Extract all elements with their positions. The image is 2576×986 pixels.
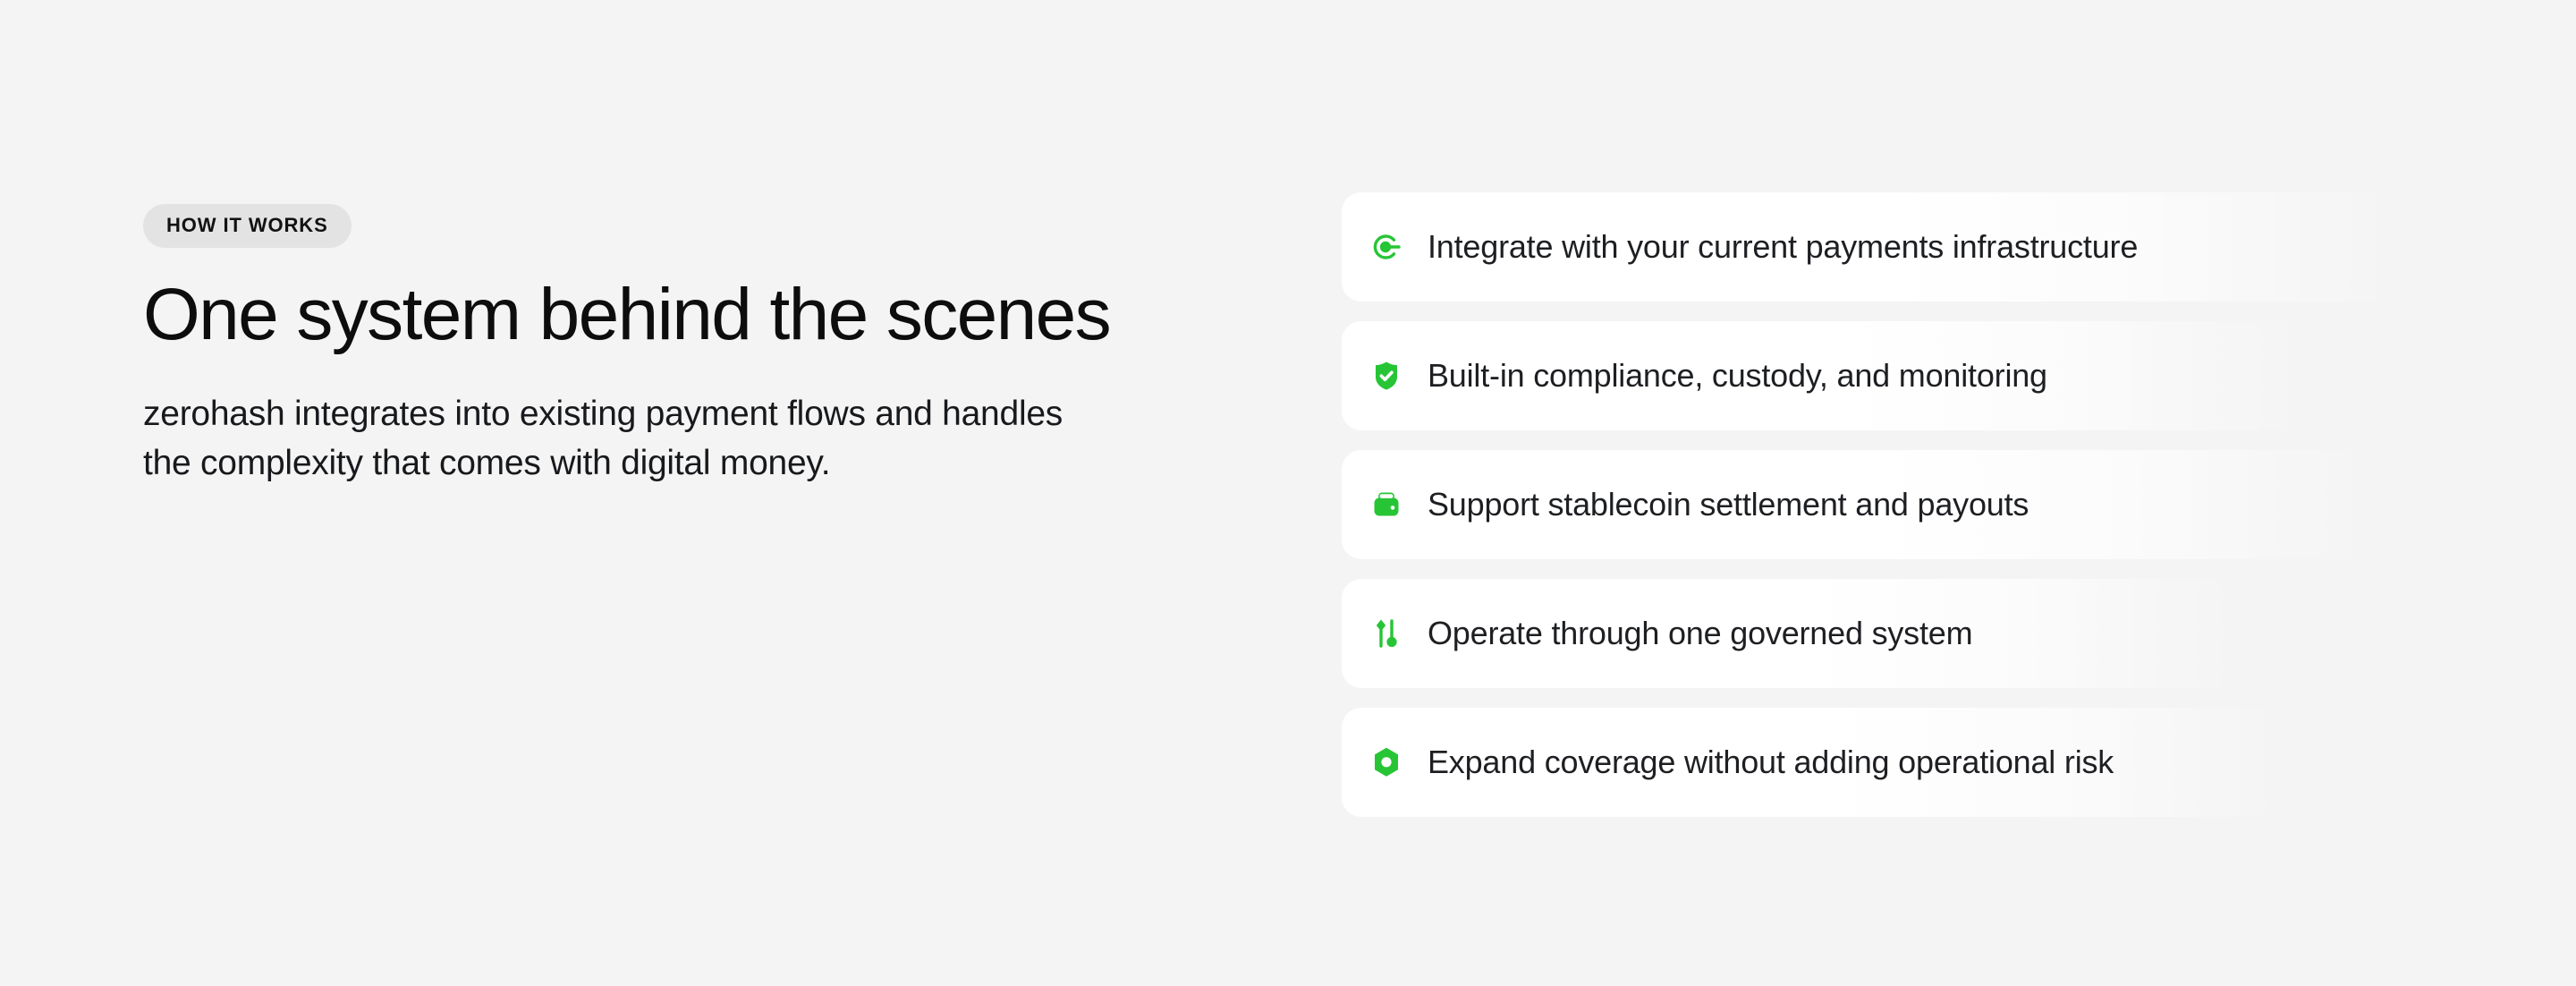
feature-label: Built-in compliance, custody, and monito… bbox=[1428, 356, 2047, 395]
wallet-icon bbox=[1368, 487, 1404, 523]
feature-label: Operate through one governed system bbox=[1428, 614, 1972, 652]
intro-paragraph: zerohash integrates into existing paymen… bbox=[143, 389, 1234, 489]
shield-check-icon bbox=[1368, 358, 1404, 394]
feature-card[interactable]: Support stablecoin settlement and payout… bbox=[1342, 450, 2379, 559]
hexagon-node-icon bbox=[1368, 744, 1404, 780]
eyebrow-badge: HOW IT WORKS bbox=[143, 204, 352, 248]
feature-card[interactable]: Operate through one governed system bbox=[1342, 579, 2245, 688]
page-title: One system behind the scenes bbox=[143, 278, 1261, 352]
intro-paragraph-line-2: the complexity that comes with digital m… bbox=[143, 438, 1234, 488]
feature-list: Integrate with your current payments inf… bbox=[1342, 192, 2504, 837]
intro-paragraph-line-1: zerohash integrates into existing paymen… bbox=[143, 389, 1234, 438]
feature-label: Support stablecoin settlement and payout… bbox=[1428, 485, 2029, 523]
sliders-icon bbox=[1368, 616, 1404, 651]
intro-column: HOW IT WORKS One system behind the scene… bbox=[143, 204, 1261, 489]
feature-card[interactable]: Built-in compliance, custody, and monito… bbox=[1342, 321, 2312, 430]
feature-label: Expand coverage without adding operation… bbox=[1428, 743, 2114, 781]
how-it-works-section: HOW IT WORKS One system behind the scene… bbox=[0, 0, 2576, 986]
connection-node-icon bbox=[1368, 229, 1404, 265]
feature-card[interactable]: Integrate with your current payments inf… bbox=[1342, 192, 2406, 302]
feature-card[interactable]: Expand coverage without adding operation… bbox=[1342, 708, 2290, 817]
feature-label: Integrate with your current payments inf… bbox=[1428, 227, 2138, 266]
